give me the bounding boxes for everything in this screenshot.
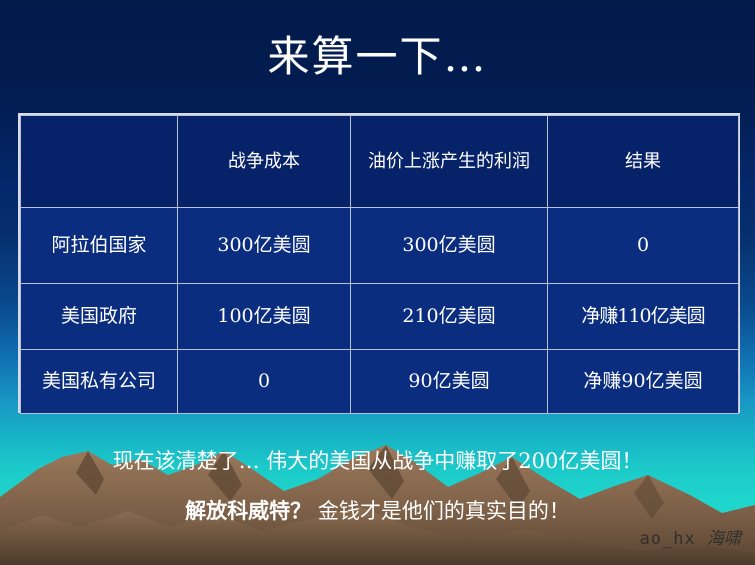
caption-line-2-bold: 解放科威特？: [185, 498, 311, 523]
table-header-row: 战争成本 油价上涨产生的利润 结果: [21, 116, 739, 208]
header-cell-oil-profit: 油价上涨产生的利润: [351, 116, 548, 208]
table-row: 阿拉伯国家 300亿美圆 300亿美圆 0: [21, 208, 739, 284]
caption-line-2: 解放科威特？ 金钱才是他们的真实目的！: [0, 498, 755, 524]
caption-line-2-rest: 金钱才是他们的真实目的！: [311, 499, 570, 523]
cell-arab-oil-profit: 300亿美圆: [351, 208, 548, 284]
row-label-us-government: 美国政府: [21, 284, 178, 350]
cell-arab-result: 0: [548, 208, 739, 284]
table-row: 美国私有公司 0 90亿美圆 净赚90亿美圆: [21, 350, 739, 414]
cell-uspriv-result: 净赚90亿美圆: [548, 350, 739, 414]
page-title: 来算一下…: [0, 32, 755, 82]
watermark-cjk: 海啸: [707, 529, 741, 549]
watermark-latin: ao_hx: [640, 529, 696, 549]
cell-arab-war-cost: 300亿美圆: [178, 208, 351, 284]
row-label-arab: 阿拉伯国家: [21, 208, 178, 284]
header-cell-result: 结果: [548, 116, 739, 208]
calculation-table: 战争成本 油价上涨产生的利润 结果 阿拉伯国家 300亿美圆 300亿美圆 0 …: [18, 113, 740, 413]
watermark: ao_hx 海啸: [640, 524, 741, 549]
cell-uspriv-war-cost: 0: [178, 350, 351, 414]
caption-line-1: 现在该清楚了… 伟大的美国从战争中赚取了200亿美圆！: [0, 448, 755, 474]
cell-usgov-war-cost: 100亿美圆: [178, 284, 351, 350]
cell-usgov-oil-profit: 210亿美圆: [351, 284, 548, 350]
header-cell-blank: [21, 116, 178, 208]
table-row: 美国政府 100亿美圆 210亿美圆 净赚110亿美圆: [21, 284, 739, 350]
header-cell-war-cost: 战争成本: [178, 116, 351, 208]
slide-canvas: 来算一下… 战争成本 油价上涨产生的利润 结果 阿拉伯国家 300亿美圆 300…: [0, 0, 755, 565]
cell-usgov-result: 净赚110亿美圆: [548, 284, 739, 350]
cell-uspriv-oil-profit: 90亿美圆: [351, 350, 548, 414]
row-label-us-private-companies: 美国私有公司: [21, 350, 178, 414]
